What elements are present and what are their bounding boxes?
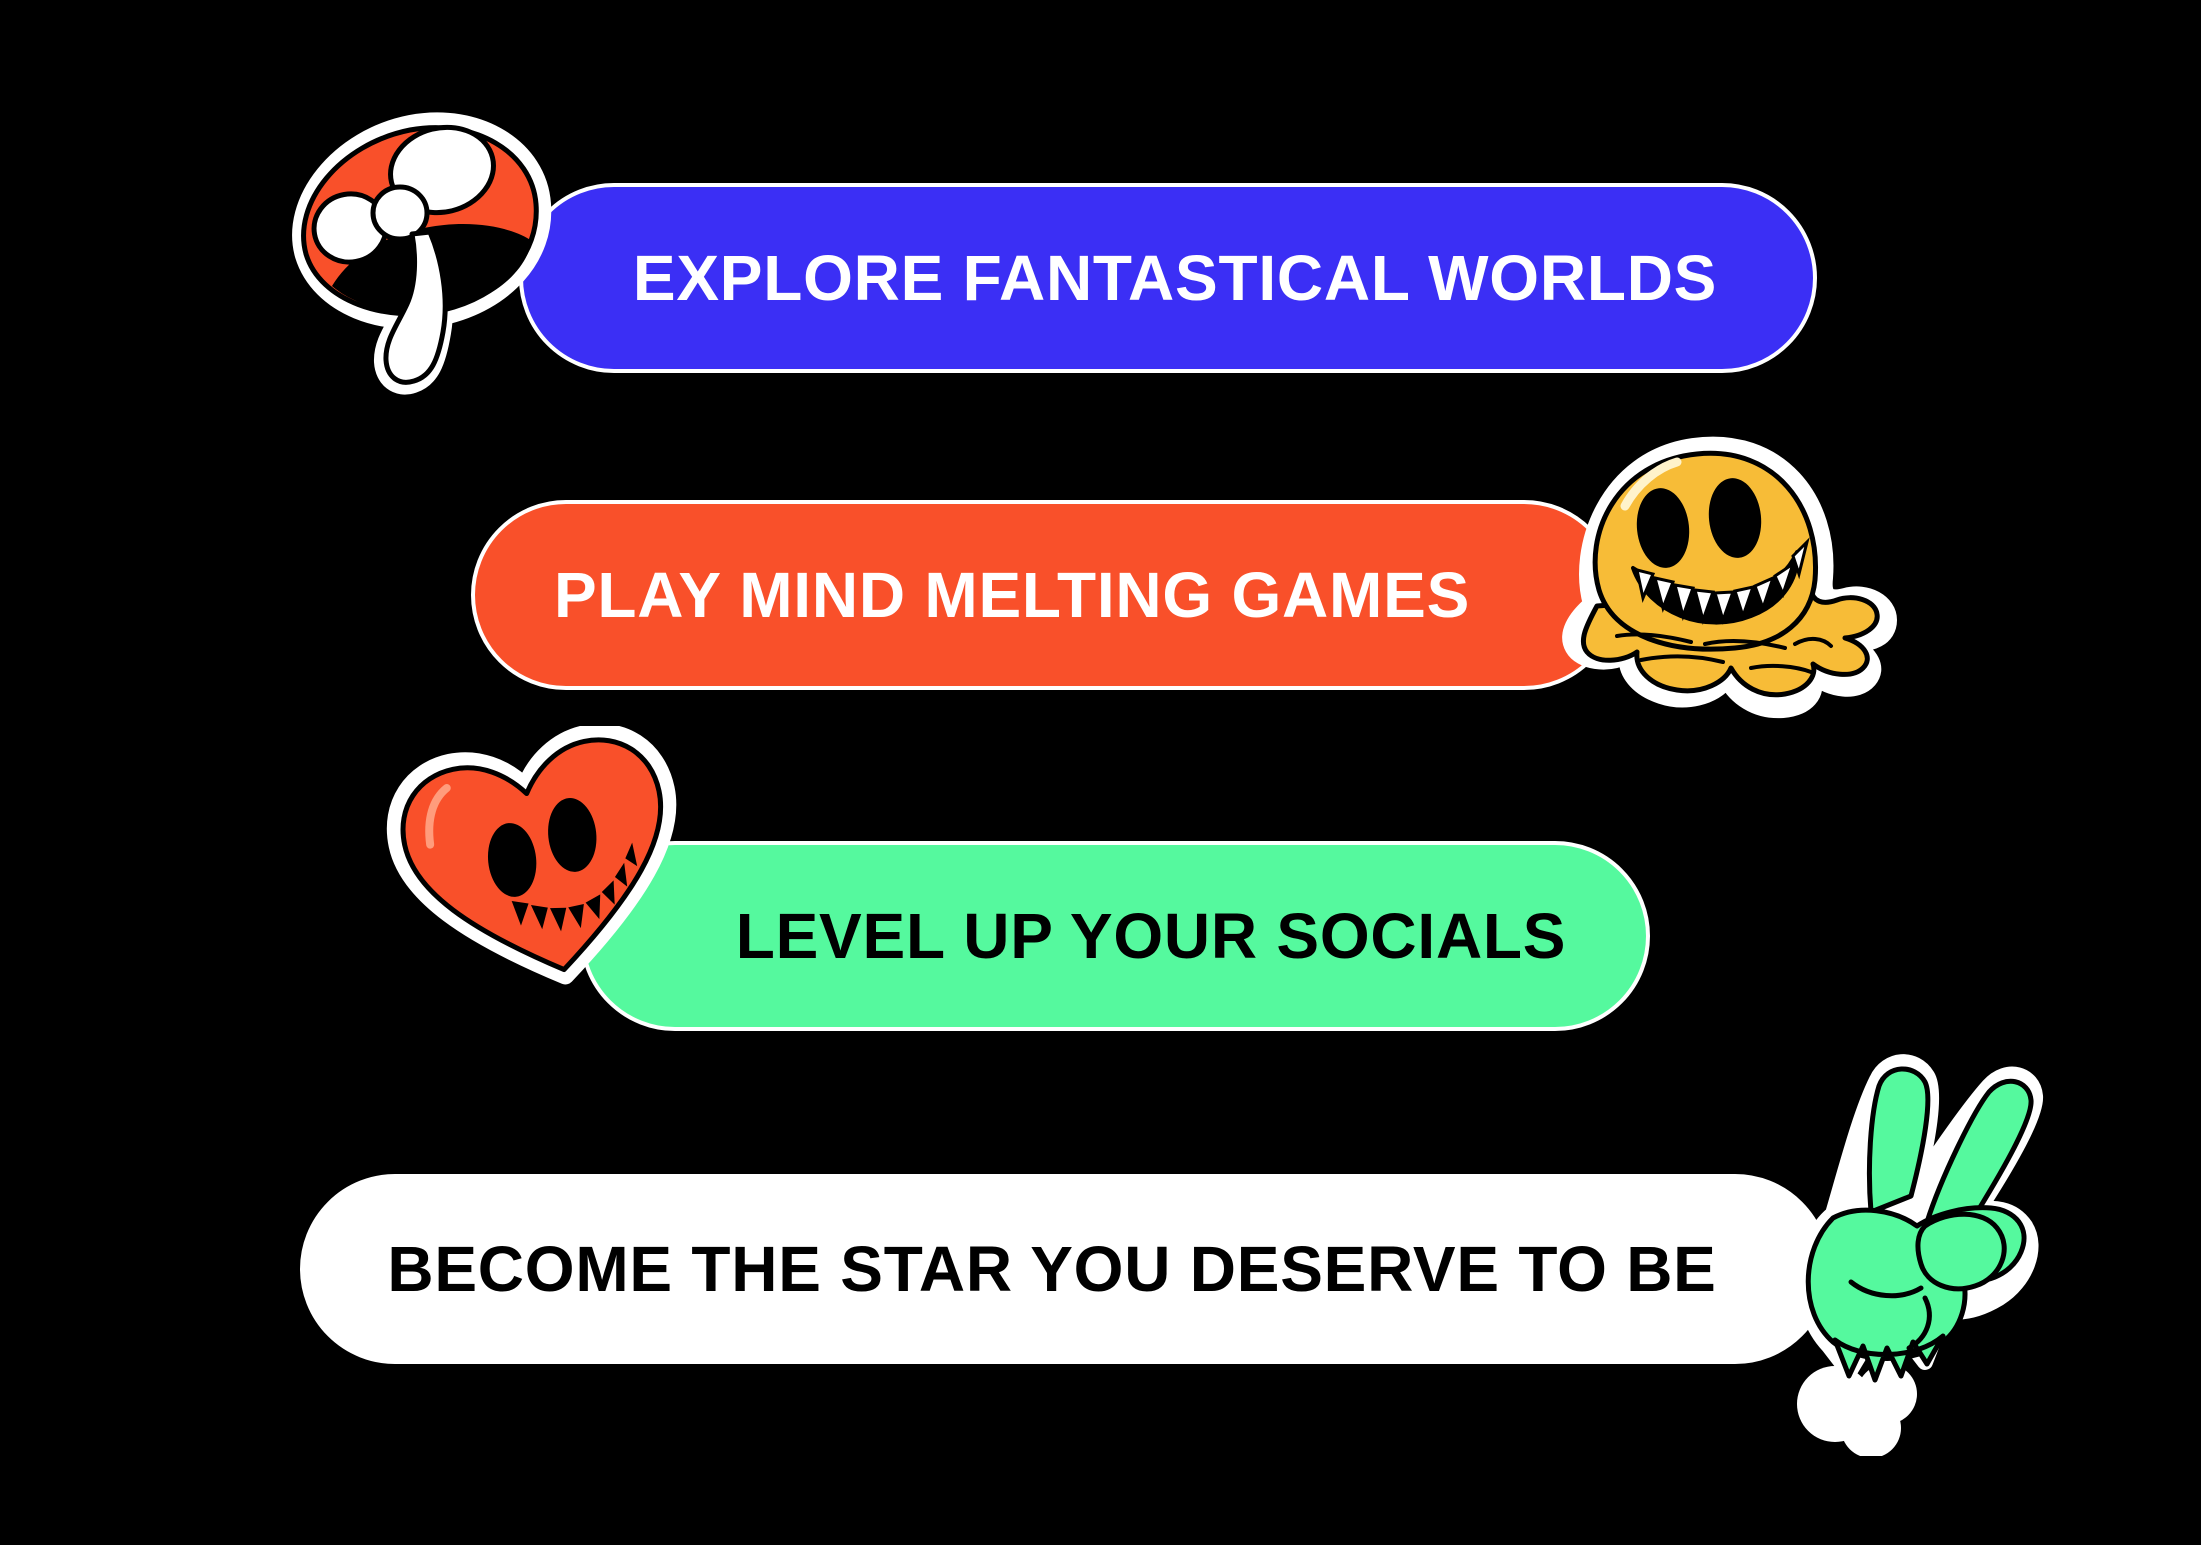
melting-smiley-sticker[interactable] [1545, 428, 1905, 723]
pill-games-label: PLAY MIND MELTING GAMES [475, 558, 1615, 632]
peace-hand-sticker[interactable] [1775, 1046, 2075, 1456]
pill-socials-label: LEVEL UP YOUR SOCIALS [584, 899, 1646, 973]
pill-level-up-your-socials[interactable]: LEVEL UP YOUR SOCIALS [580, 841, 1650, 1031]
pill-explore-label: EXPLORE FANTASTICAL WORLDS [523, 241, 1813, 315]
pill-explore-fantastical-worlds[interactable]: EXPLORE FANTASTICAL WORLDS [519, 183, 1817, 373]
pill-become-the-star[interactable]: BECOME THE STAR YOU DESERVE TO BE [300, 1174, 1830, 1364]
mushroom-icon [292, 108, 552, 398]
smiling-heart-icon [386, 726, 696, 996]
smiling-heart-sticker[interactable] [386, 726, 696, 996]
pill-star-label: BECOME THE STAR YOU DESERVE TO BE [304, 1232, 1826, 1306]
mushroom-sticker[interactable] [292, 108, 552, 398]
pill-play-mind-melting-games[interactable]: PLAY MIND MELTING GAMES [471, 500, 1619, 690]
poster-canvas: EXPLORE FANTASTICAL WORLDS PLAY MIND MEL… [0, 0, 2201, 1545]
melting-smiley-icon [1545, 428, 1905, 723]
peace-hand-icon [1775, 1046, 2075, 1456]
